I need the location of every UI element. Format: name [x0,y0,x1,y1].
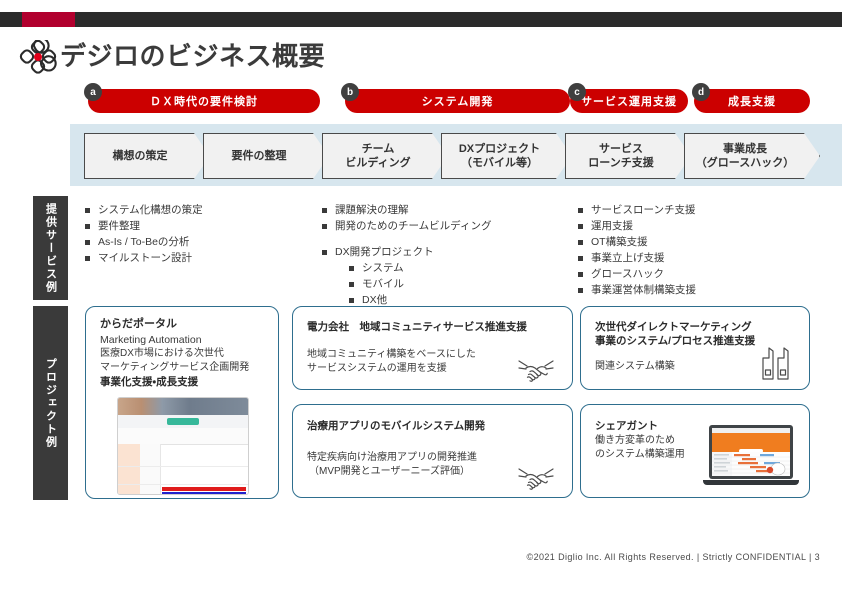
phase-badge-a: a [84,83,102,101]
project-card-dm-body: 関連システム構築 [595,360,675,374]
phase-pill-c-label: サービス運用支援 [581,93,677,109]
project-card-karada[interactable]: からだポータル Marketing Automation 医療DX市場における次… [85,306,279,499]
section-label-services: 提供サービス例 [33,196,68,300]
phase-badge-d: d [692,83,710,101]
project-card-medical-title: 治療用アプリのモバイルシステム開発 [307,419,485,433]
laptop-screen-content [712,428,790,476]
phase-pill-b[interactable]: システム開発 [345,89,570,113]
thumb-row-sublabel-2 [140,466,161,484]
footer-copyright: ©2021 Diglio Inc. All Rights Reserved. |… [527,552,820,562]
process-step-2: 要件の整理 [203,133,329,179]
project-card-karada-line3: 事業化支援・成長支援 [100,375,198,389]
laptop-base [703,480,799,485]
project-card-power[interactable]: 電力会社 地域コミュニティサービス推進支援 地域コミュニティ構築をベースにした … [292,306,573,390]
phase-pill-b-label: システム開発 [422,93,494,109]
thumb-hero-banner [118,398,248,415]
process-step-4-line1: DXプロジェクト [459,143,540,155]
thumb-row-label-1 [118,444,140,466]
laptop-sharegantt-screenshot [703,425,799,485]
service-bullet-item: OT構築支援 [578,235,696,250]
thumb-bar-red-1 [162,487,246,491]
top-bar-accent [22,12,75,27]
top-bar [0,12,842,27]
project-card-power-title: 電力会社 地域コミュニティサービス推進支援 [307,320,527,334]
service-bullet-item: 課題解決の理解 [322,203,491,218]
phase-pill-d[interactable]: 成長支援 [694,89,810,113]
project-card-direct-marketing[interactable]: 次世代ダイレクトマーケティング 事業のシステム/プロセス推進支援 関連システム構… [580,306,810,390]
service-bullet-item: モバイル [349,277,491,292]
thumb-cta-button [167,418,199,425]
project-card-sharegantt-title: シェアガント [595,419,658,433]
service-bullet-item: As-Is / To-Beの分析 [85,235,203,250]
service-bullets-col1: システム化構想の策定要件整理As-Is / To-Beの分析マイルストーン設計 [85,203,203,267]
thumb-divider-2 [118,484,248,485]
thumb-button-row [118,415,248,428]
phase-pill-c[interactable]: サービス運用支援 [570,89,688,113]
project-card-dm-title-line1: 次世代ダイレクトマーケティング [595,320,752,334]
project-card-karada-subtitle: Marketing Automation [100,333,202,347]
process-step-4: DXプロジェクト （モバイル等） [441,133,572,179]
handshake-icon [516,463,556,491]
thumb-bar-blue-1 [162,492,246,495]
project-card-dm-title-line2: 事業のシステム/プロセス推進支援 [595,334,755,348]
thumb-row-sublabel-3 [140,484,161,495]
process-step-3-line2: ビルディング [345,157,410,169]
phase-badge-b: b [341,83,359,101]
service-bullet-item: マイルストーン設計 [85,251,203,266]
project-card-power-line2: サービスシステムの運用を支援 [307,362,447,376]
slide-root: デジロのビジネス概要 ＤＸ時代の要件検討 a システム開発 b サービス運用支援… [0,0,842,595]
service-bullets-col2: 課題解決の理解開発のためのチームビルディングDX開発プロジェクトシステムモバイル… [322,203,491,309]
laptop-screen [709,425,793,479]
service-bullet-item: システム化構想の策定 [85,203,203,218]
project-card-medical-line2: （MVP開発とユーザーニーズ評価） [309,465,470,479]
project-card-karada-title: からだポータル [100,317,177,331]
project-card-power-line1: 地域コミュニティ構築をベースにした [307,348,476,362]
process-step-6: 事業成長 （グロースハック） [684,133,820,179]
laptop-gantt-area [712,452,790,476]
service-bullet-item: DX開発プロジェクト [322,245,491,260]
project-card-medical[interactable]: 治療用アプリのモバイルシステム開発 特定疾病向け治療用アプリの開発推進 （MVP… [292,404,573,498]
project-card-karada-line1: 医療DX市場における次世代 [100,347,224,361]
section-label-projects: プロジェクト例 [33,306,68,500]
thumb-row-sublabel-1 [140,444,161,466]
thumb-data-grid [118,428,248,494]
process-step-1-line1: 構想の策定 [113,150,168,162]
process-step-6-line2: （グロースハック） [696,157,794,169]
project-card-sharegantt-line2: のシステム構築運用 [595,448,685,462]
service-bullet-item: システム [349,261,491,276]
karada-portal-screenshot [117,397,249,495]
service-bullet-item: 事業立上げ支援 [578,251,696,266]
service-bullet-item: 要件整理 [85,219,203,234]
service-bullet-item: グロースハック [578,267,696,282]
laptop-hero-banner [712,433,790,452]
thumb-grid-header [118,428,248,445]
phase-pill-d-label: 成長支援 [728,93,776,109]
page-title: デジロのビジネス概要 [60,38,325,74]
service-bullet-item: 運用支援 [578,219,696,234]
process-step-3-line1: チーム [362,143,395,155]
thumb-divider-1 [118,466,248,467]
project-card-medical-line1: 特定疾病向け治療用アプリの開発推進 [307,451,477,465]
thumb-row-label-2 [118,466,140,484]
service-bullet-item: 事業運営体制構築支援 [578,283,696,298]
process-step-1: 構想の策定 [84,133,210,179]
process-step-4-line2: （モバイル等） [461,157,538,169]
process-step-2-line1: 要件の整理 [232,150,287,162]
buildings-icon [761,347,791,381]
project-card-sharegantt[interactable]: シェアガント 働き方変革のため のシステム構築運用 [580,404,810,498]
service-bullets-col3: サービスローンチ支援運用支援OT構築支援事業立上げ支援グロースハック事業運営体制… [578,203,696,299]
process-step-5: サービス ローンチ支援 [565,133,691,179]
phase-pill-a-label: ＤＸ時代の要件検討 [150,93,258,109]
handshake-icon [516,355,556,383]
diglio-flower-logo [15,40,61,76]
phase-pill-a[interactable]: ＤＸ時代の要件検討 [88,89,320,113]
process-step-6-line1: 事業成長 [723,143,767,155]
process-step-5-line2: ローンチ支援 [588,157,653,169]
service-bullet-item: サービスローンチ支援 [578,203,696,218]
process-step-5-line1: サービス [599,143,643,155]
project-card-sharegantt-line1: 働き方変革のため [595,434,675,448]
process-step-3: チーム ビルディング [322,133,448,179]
service-bullet-item: 開発のためのチームビルディング [322,219,491,234]
thumb-row-label-3 [118,484,140,495]
phase-badge-c: c [568,83,586,101]
project-card-karada-line2: マーケティングサービス企画開発 [100,361,249,375]
